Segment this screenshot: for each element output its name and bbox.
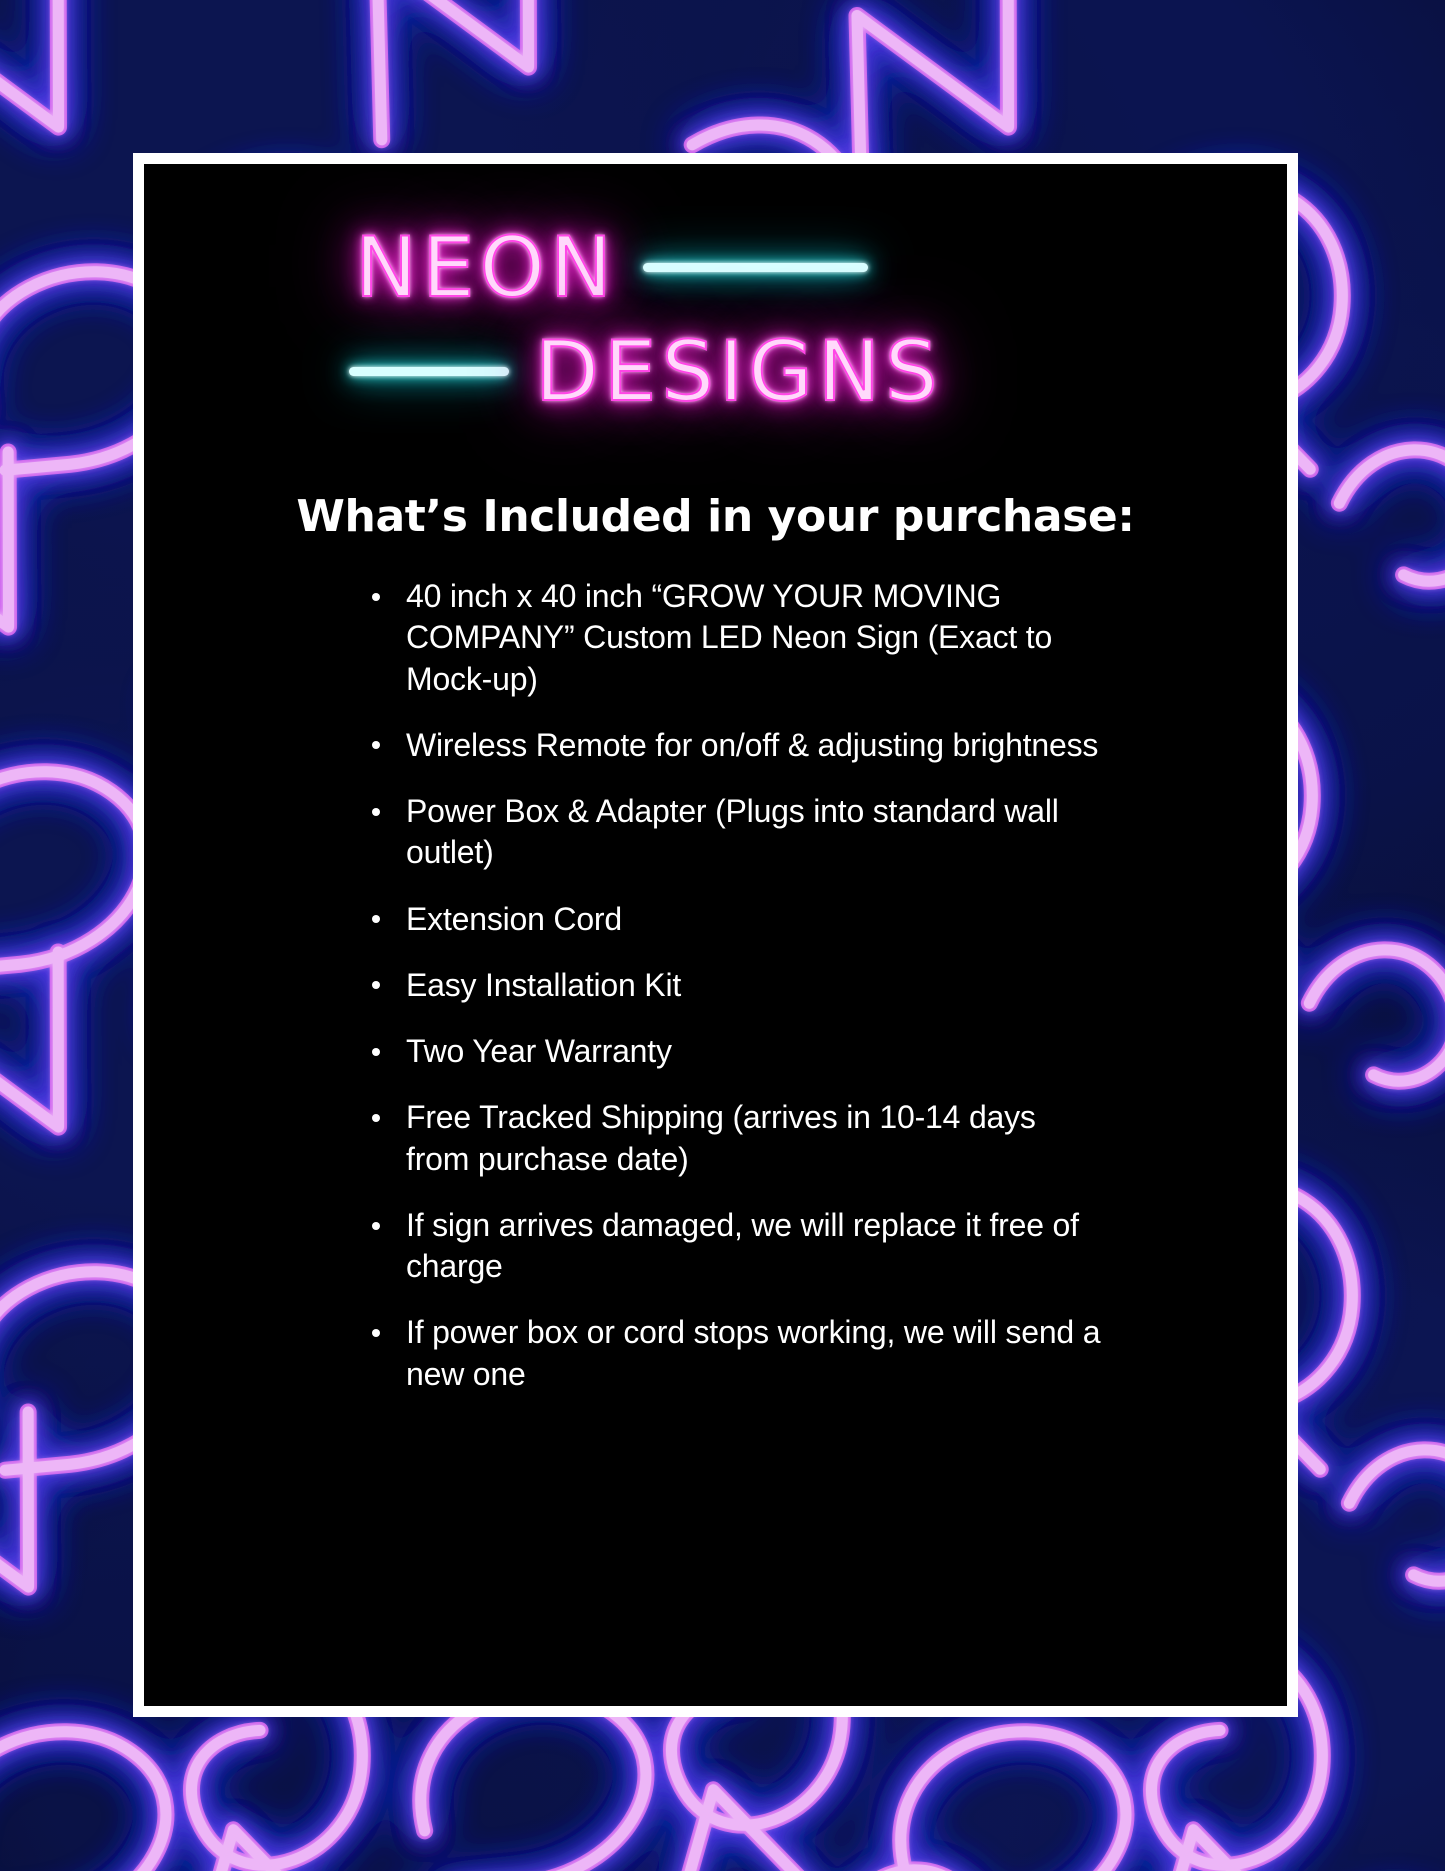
page-title: What’s Included in your purchase: — [144, 491, 1287, 542]
list-item: Wireless Remote for on/off & adjusting b… — [372, 725, 1106, 766]
list-item-label: Two Year Warranty — [406, 1033, 672, 1069]
poster-page: NEON DESIGNS What’s Included in your pur… — [0, 0, 1445, 1871]
bullet-dot-icon — [372, 593, 380, 601]
bullet-dot-icon — [372, 1048, 380, 1056]
list-item: Extension Cord — [372, 899, 1106, 940]
logo-word-designs: DESIGNS — [535, 330, 943, 413]
bullet-dot-icon — [372, 1222, 380, 1230]
list-item: Power Box & Adapter (Plugs into standard… — [372, 791, 1106, 874]
bullet-dot-icon — [372, 1114, 380, 1122]
neon-designs-logo: NEON DESIGNS — [144, 222, 1287, 457]
cyan-neon-bar-left-icon — [349, 367, 509, 376]
list-item-label: If power box or cord stops working, we w… — [406, 1314, 1100, 1391]
logo-row-top: NEON — [355, 226, 868, 309]
content-card: NEON DESIGNS What’s Included in your pur… — [144, 164, 1287, 1706]
bullet-dot-icon — [372, 981, 380, 989]
logo-row-bottom: DESIGNS — [349, 330, 943, 413]
bullet-dot-icon — [372, 808, 380, 816]
bullet-dot-icon — [372, 915, 380, 923]
list-item: 40 inch x 40 inch “GROW YOUR MOVING COMP… — [372, 576, 1106, 700]
list-item-label: If sign arrives damaged, we will replace… — [406, 1207, 1079, 1284]
list-item-label: Extension Cord — [406, 901, 622, 937]
cyan-neon-bar-right-icon — [643, 263, 868, 272]
bullet-dot-icon — [372, 1329, 380, 1337]
list-item-label: 40 inch x 40 inch “GROW YOUR MOVING COMP… — [406, 578, 1052, 697]
content-card-frame: NEON DESIGNS What’s Included in your pur… — [133, 153, 1298, 1717]
logo-word-neon: NEON — [355, 226, 617, 309]
list-item: Easy Installation Kit — [372, 965, 1106, 1006]
list-item-label: Wireless Remote for on/off & adjusting b… — [406, 727, 1098, 763]
list-item: If power box or cord stops working, we w… — [372, 1312, 1106, 1395]
list-item-label: Easy Installation Kit — [406, 967, 681, 1003]
list-item: Free Tracked Shipping (arrives in 10-14 … — [372, 1097, 1106, 1180]
list-item-label: Free Tracked Shipping (arrives in 10-14 … — [406, 1099, 1036, 1176]
included-items-list: 40 inch x 40 inch “GROW YOUR MOVING COMP… — [144, 576, 1287, 1395]
list-item: If sign arrives damaged, we will replace… — [372, 1205, 1106, 1288]
list-item-label: Power Box & Adapter (Plugs into standard… — [406, 793, 1059, 870]
list-item: Two Year Warranty — [372, 1031, 1106, 1072]
bullet-dot-icon — [372, 741, 380, 749]
